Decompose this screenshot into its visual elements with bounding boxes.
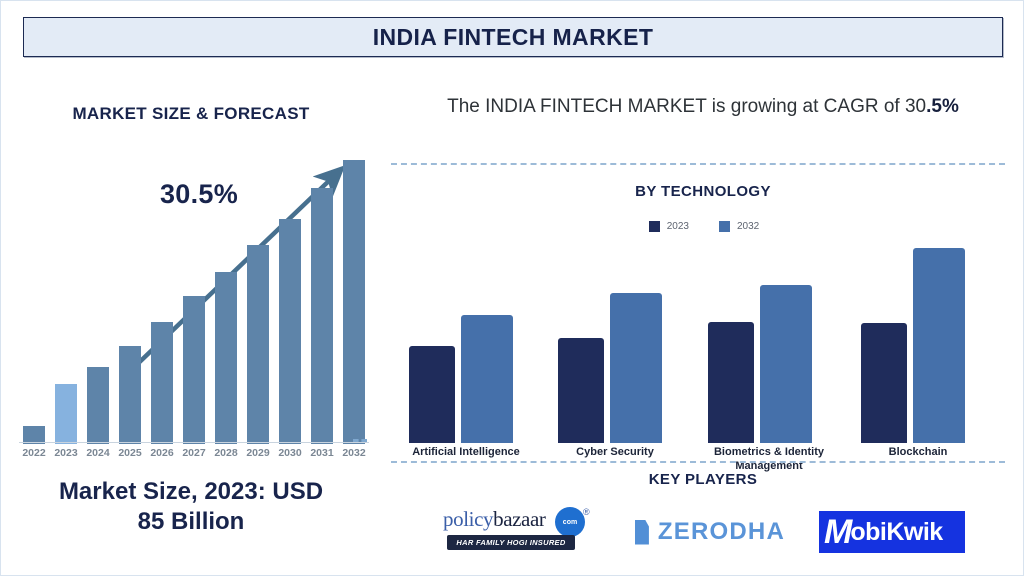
year-tick-2030: 2030 bbox=[274, 447, 306, 459]
tech-bar-blockchain-2032 bbox=[913, 248, 965, 443]
tech-bar-biometrics-2032 bbox=[760, 285, 812, 443]
policybazaar-tagline: HAR FAMILY HOGI INSURED bbox=[447, 535, 575, 550]
market-size-bar-chart bbox=[1, 144, 381, 444]
zerodha-wordmark: ZERODHA bbox=[658, 518, 785, 546]
growth-bar-2031 bbox=[311, 188, 333, 444]
policybazaar-registered-icon: ® bbox=[583, 507, 590, 517]
year-tick-2024: 2024 bbox=[82, 447, 114, 459]
year-tick-2025: 2025 bbox=[114, 447, 146, 459]
by-technology-heading: BY TECHNOLOGY bbox=[393, 183, 1013, 200]
tech-bar-cyber-2032 bbox=[610, 293, 662, 443]
legend-item-2023: 2023 bbox=[649, 221, 689, 232]
growth-bar-2030 bbox=[279, 219, 301, 444]
year-tick-2027: 2027 bbox=[178, 447, 210, 459]
tech-bar-ai-2032 bbox=[461, 315, 513, 443]
market-size-value: Market Size, 2023: USD 85 Billion bbox=[9, 477, 373, 537]
growth-bar-2025 bbox=[119, 346, 141, 444]
year-tick-2031: 2031 bbox=[306, 447, 338, 459]
growth-bar-2023 bbox=[55, 384, 77, 444]
legend-label-2032: 2032 bbox=[737, 221, 759, 232]
tech-label-cyber: Cyber Security bbox=[550, 445, 680, 459]
year-tick-2029: 2029 bbox=[242, 447, 274, 459]
year-tick-2032: 2032 bbox=[338, 447, 370, 459]
year-tick-2022: 2022 bbox=[18, 447, 50, 459]
policybazaar-logo[interactable]: policybazaar com ® HAR FAMILY HOGI INSUR… bbox=[443, 507, 591, 559]
year-tick-2023: 2023 bbox=[50, 447, 82, 459]
tech-bar-cyber-2023 bbox=[558, 338, 604, 443]
zerodha-logo[interactable]: ZERODHA bbox=[635, 515, 785, 549]
cagr-headline-value: 30 bbox=[905, 96, 926, 117]
infographic-root: INDIA FINTECH MARKET MARKET SIZE & FOREC… bbox=[0, 0, 1024, 576]
growth-bar-2024 bbox=[87, 367, 109, 444]
market-size-line-2: 85 Billion bbox=[9, 507, 373, 537]
x-axis-tick-labels: 2022 2023 2024 2025 2026 2027 2028 2029 … bbox=[1, 447, 381, 463]
key-players-logos: policybazaar com ® HAR FAMILY HOGI INSUR… bbox=[383, 499, 1024, 569]
x-axis-line bbox=[19, 442, 369, 443]
policybazaar-word-dark: bazaar bbox=[493, 507, 545, 531]
mobikwik-initial: M bbox=[824, 515, 850, 549]
cagr-headline-prefix: The INDIA FINTECH MARKET is growing at C… bbox=[447, 96, 905, 117]
tech-bar-blockchain-2023 bbox=[861, 323, 907, 443]
legend-item-2032: 2032 bbox=[719, 221, 759, 232]
tech-label-biometrics: Biometrics & Identity Management bbox=[689, 445, 849, 474]
mobikwik-logo[interactable]: M obiKwik bbox=[819, 511, 965, 553]
key-players-heading: KEY PLAYERS bbox=[393, 471, 1013, 488]
by-technology-bar-chart bbox=[383, 247, 1024, 443]
policybazaar-com-badge: com bbox=[555, 507, 585, 537]
year-tick-2028: 2028 bbox=[210, 447, 242, 459]
cagr-headline: The INDIA FINTECH MARKET is growing at C… bbox=[393, 93, 1013, 121]
tech-label-ai: Artificial Intelligence bbox=[401, 445, 531, 459]
mobikwik-wordmark: obiKwik bbox=[850, 520, 942, 545]
growth-bar-2027 bbox=[183, 296, 205, 444]
legend-label-2023: 2023 bbox=[667, 221, 689, 232]
legend-swatch-2023 bbox=[649, 221, 660, 232]
growth-bar-2026 bbox=[151, 322, 173, 444]
market-size-line-1: Market Size, 2023: USD bbox=[9, 477, 373, 507]
cagr-headline-value-bold: .5% bbox=[926, 96, 959, 117]
x-axis-dash-tail bbox=[353, 439, 367, 445]
policybazaar-wordmark: policybazaar bbox=[443, 509, 563, 530]
tech-bar-biometrics-2023 bbox=[708, 322, 754, 443]
divider-top bbox=[391, 163, 1005, 165]
growth-bar-2032 bbox=[343, 160, 365, 444]
divider-bottom bbox=[391, 461, 1005, 463]
growth-bar-2028 bbox=[215, 272, 237, 444]
technology-chart-legend: 2023 2032 bbox=[383, 221, 1024, 232]
growth-bar-2029 bbox=[247, 245, 269, 444]
tech-label-blockchain: Blockchain bbox=[853, 445, 983, 459]
market-size-forecast-panel: MARKET SIZE & FORECAST 30.5% bbox=[1, 79, 381, 577]
page-title-banner: INDIA FINTECH MARKET bbox=[23, 17, 1003, 57]
policybazaar-word-light: policy bbox=[443, 507, 493, 531]
market-size-forecast-heading: MARKET SIZE & FORECAST bbox=[1, 104, 381, 124]
tech-bar-ai-2023 bbox=[409, 346, 455, 443]
zerodha-mark-icon bbox=[635, 520, 649, 545]
page-title: INDIA FINTECH MARKET bbox=[373, 24, 654, 51]
legend-swatch-2032 bbox=[719, 221, 730, 232]
year-tick-2026: 2026 bbox=[146, 447, 178, 459]
technology-and-players-panel: The INDIA FINTECH MARKET is growing at C… bbox=[383, 79, 1024, 577]
